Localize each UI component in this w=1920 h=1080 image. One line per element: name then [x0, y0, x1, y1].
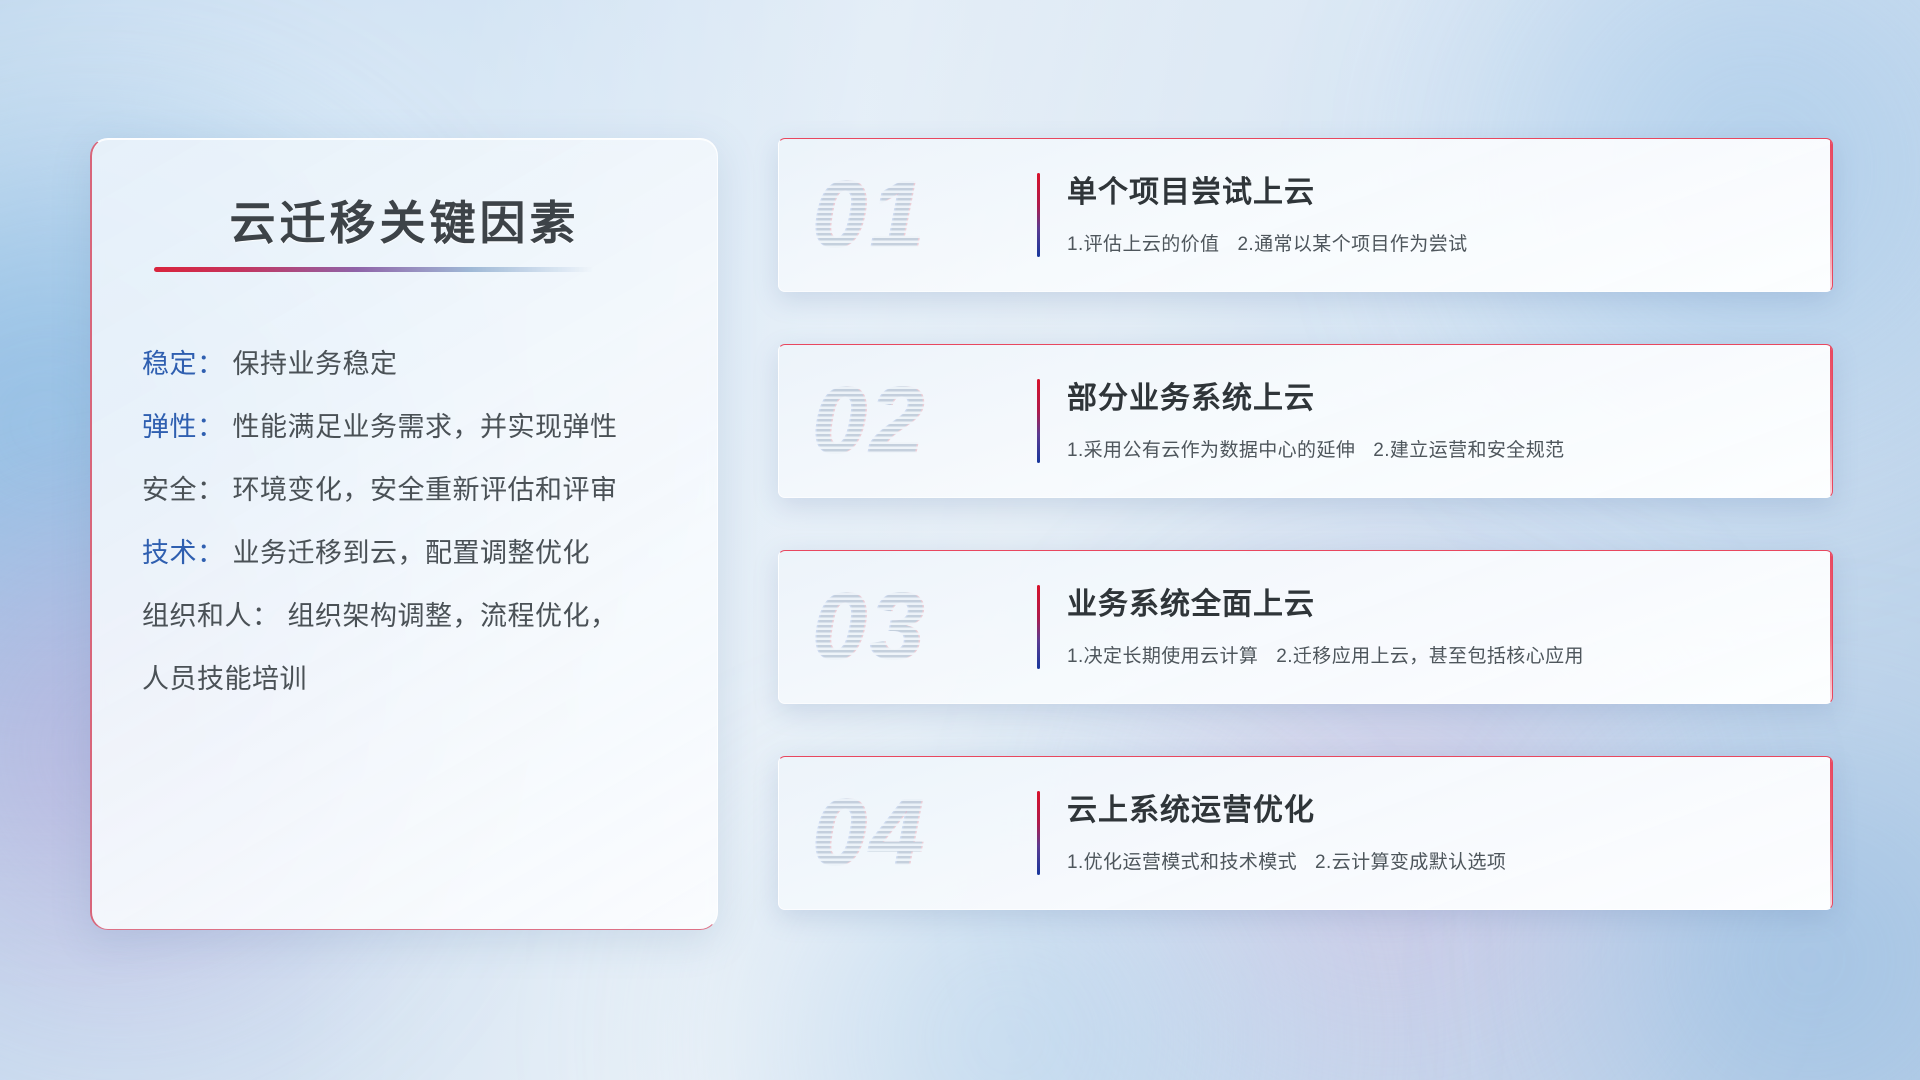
stage-points: 1.评估上云的价值2.通常以某个项目作为尝试: [1067, 229, 1802, 256]
stage-point: 1.评估上云的价值: [1067, 234, 1219, 255]
stage-point: 2.建立运营和安全规范: [1373, 440, 1564, 461]
stage-number: 03: [813, 565, 1013, 689]
key-factor-label: 组织和人：: [142, 601, 280, 631]
stage-body: 业务系统全面上云1.决定长期使用云计算2.迁移应用上云，甚至包括核心应用: [1067, 579, 1802, 668]
stage-point: 1.采用公有云作为数据中心的延伸: [1067, 440, 1355, 461]
stage-points: 1.采用公有云作为数据中心的延伸2.建立运营和安全规范: [1067, 435, 1802, 462]
stage-point: 2.通常以某个项目作为尝试: [1237, 234, 1467, 255]
key-factor-row: 组织和人： 组织架构调整，流程优化，: [142, 603, 683, 630]
stage-title: 业务系统全面上云: [1067, 579, 1802, 623]
stage-number: 01: [813, 153, 1013, 277]
stage-title: 部分业务系统上云: [1067, 373, 1802, 417]
stage-number: 04: [813, 771, 1013, 895]
title-underline: [154, 267, 594, 272]
key-factors-list: 稳定： 保持业务稳定弹性： 性能满足业务需求，并实现弹性安全： 环境变化，安全重…: [142, 351, 683, 729]
key-factor-row: 弹性： 性能满足业务需求，并实现弹性: [142, 414, 683, 441]
key-factor-label: 弹性：: [142, 412, 225, 442]
key-factor-row: 稳定： 保持业务稳定: [142, 351, 683, 378]
migration-stage-card[interactable]: 03业务系统全面上云1.决定长期使用云计算2.迁移应用上云，甚至包括核心应用: [778, 550, 1833, 704]
stage-body: 单个项目尝试上云1.评估上云的价值2.通常以某个项目作为尝试: [1067, 167, 1802, 256]
key-factor-row: 安全： 环境变化，安全重新评估和评审: [142, 477, 683, 504]
stage-point: 2.迁移应用上云，甚至包括核心应用: [1276, 646, 1584, 667]
stage-title: 云上系统运营优化: [1067, 785, 1802, 829]
key-factor-row: 人员技能培训: [142, 666, 683, 693]
stage-accent-bar: [1037, 173, 1040, 257]
stage-title: 单个项目尝试上云: [1067, 167, 1802, 211]
key-factor-value: 业务迁移到云，配置调整优化: [233, 538, 591, 568]
migration-stages-list: 01单个项目尝试上云1.评估上云的价值2.通常以某个项目作为尝试02部分业务系统…: [778, 138, 1833, 962]
key-factors-panel: 云迁移关键因素 稳定： 保持业务稳定弹性： 性能满足业务需求，并实现弹性安全： …: [90, 138, 718, 930]
stage-points: 1.优化运营模式和技术模式2.云计算变成默认选项: [1067, 847, 1802, 874]
key-factor-row: 技术： 业务迁移到云，配置调整优化: [142, 540, 683, 567]
stage-accent-bar: [1037, 585, 1040, 669]
stage-point: 1.决定长期使用云计算: [1067, 646, 1258, 667]
key-factor-value: 环境变化，安全重新评估和评审: [233, 475, 618, 505]
key-factor-label: 稳定：: [142, 349, 225, 379]
key-factor-label: 安全：: [142, 475, 225, 505]
stage-body: 部分业务系统上云1.采用公有云作为数据中心的延伸2.建立运营和安全规范: [1067, 373, 1802, 462]
key-factor-value: 保持业务稳定: [233, 349, 398, 379]
page-title: 云迁移关键因素: [92, 187, 717, 253]
migration-stage-card[interactable]: 02部分业务系统上云1.采用公有云作为数据中心的延伸2.建立运营和安全规范: [778, 344, 1833, 498]
stage-accent-bar: [1037, 791, 1040, 875]
stage-accent-bar: [1037, 379, 1040, 463]
stage-body: 云上系统运营优化1.优化运营模式和技术模式2.云计算变成默认选项: [1067, 785, 1802, 874]
key-factor-value: 性能满足业务需求，并实现弹性: [233, 412, 618, 442]
key-factor-label: 技术：: [142, 538, 225, 568]
stage-point: 1.优化运营模式和技术模式: [1067, 852, 1297, 873]
migration-stage-card[interactable]: 04云上系统运营优化1.优化运营模式和技术模式2.云计算变成默认选项: [778, 756, 1833, 910]
stage-number: 02: [813, 359, 1013, 483]
stage-points: 1.决定长期使用云计算2.迁移应用上云，甚至包括核心应用: [1067, 641, 1802, 668]
migration-stage-card[interactable]: 01单个项目尝试上云1.评估上云的价值2.通常以某个项目作为尝试: [778, 138, 1833, 292]
key-factor-value: 人员技能培训: [142, 664, 307, 694]
key-factor-value: 组织架构调整，流程优化，: [288, 601, 618, 631]
stage-point: 2.云计算变成默认选项: [1315, 852, 1506, 873]
